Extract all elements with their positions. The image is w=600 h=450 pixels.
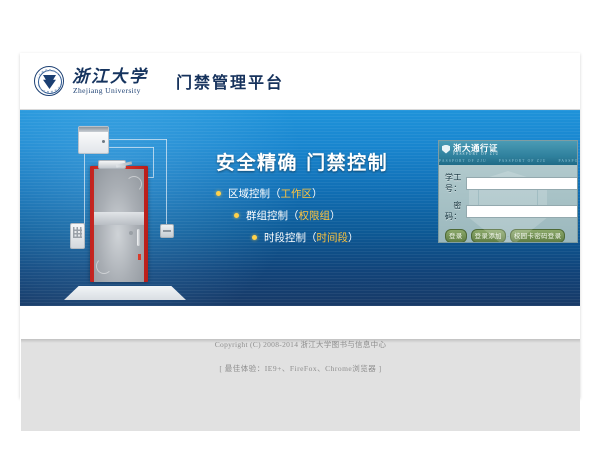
password-input[interactable] [466,205,578,218]
feature-text-end: ） [330,208,341,223]
login-form: 学工号： 密 码： [439,165,577,222]
login-panel-subtitle: PASSPORT OF ZJU [453,152,499,156]
cable-to-keypad [84,154,85,224]
university-name-cn: 浙江大学 [72,68,148,85]
strip-text: PASSPORT OF ZJU [559,159,578,163]
browser-compatibility-text: [ 最佳体验：IE9+、FireFox、Chrome浏览器 ] [21,363,580,374]
password-label: 密 码： [445,200,462,222]
door-handle [137,229,141,246]
feature-text: 区域控制（ [228,186,281,201]
door-access-control-illustration [48,124,208,302]
banner-slogan: 安全精确 门禁控制 [216,148,388,175]
list-item[interactable]: 时段控制（ 时间段 ） [252,230,359,245]
bullet-icon [216,191,221,196]
login-button-row: 登录 登录添加 校园卡密码登录 [439,228,577,243]
login-panel-titlebar: 浙大通行证 PASSPORT OF ZJU [439,141,577,157]
list-item[interactable]: 群组控制（ 权限组 ） [234,208,359,223]
cable-top-horizontal [109,139,167,140]
feature-highlight: 权限组 [299,208,331,223]
login-add-button[interactable]: 登录添加 [471,229,506,243]
feature-highlight: 时间段 [317,230,349,245]
brand-text: 浙江大学 Zhejiang University [64,68,148,95]
student-id-label: 学工号： [445,172,462,194]
application-window: 浙江大学 Zhejiang University 门禁管理平台 [20,53,580,398]
university-name-en: Zhejiang University [73,87,148,95]
cable-second-drop [153,147,154,177]
field-student-id: 学工号： [445,172,571,194]
door-decor-swirl [126,176,142,192]
feature-text-end: ） [312,186,323,201]
bullet-icon [234,213,239,218]
door-frame [90,166,148,282]
door-leaf [94,169,144,282]
bullet-icon [252,235,257,240]
page-title: 门禁管理平台 [176,69,284,93]
keypad-reader-icon [70,223,85,249]
control-box-led [102,140,105,143]
door-panel-band [94,212,144,225]
card-reader-icon [160,224,174,238]
cable-second-horizontal [109,147,154,148]
login-panel-strip: PASSPORT OF ZJU PASSPORT OF ZJU PASSPORT… [439,157,577,165]
field-password: 密 码： [445,200,571,222]
strip-text: PASSPORT OF ZJU [499,159,547,163]
keypad-buttons [73,227,82,238]
page-header: 浙江大学 Zhejiang University 门禁管理平台 [20,53,580,110]
door-decor-swirl [96,258,112,274]
control-box-icon [78,126,109,154]
list-item[interactable]: 区域控制（ 工作区 ） [216,186,359,201]
campus-card-login-button[interactable]: 校园卡密码登录 [510,229,566,243]
shield-icon [442,145,450,154]
feature-text: 群组控制（ [246,208,299,223]
student-id-input[interactable] [466,177,578,190]
login-button[interactable]: 登录 [445,229,467,243]
university-logo[interactable]: 浙江大学 Zhejiang University [34,66,148,96]
feature-highlight: 工作区 [281,186,313,201]
floor-plate [64,286,186,300]
hero-banner: 安全精确 门禁控制 区域控制（ 工作区 ） 群组控制（ 权限组 ） 时段控制（ … [20,110,580,306]
cable-to-card-reader [166,139,167,225]
strip-text: PASSPORT OF ZJU [439,159,487,163]
feature-text: 时段控制（ [264,230,317,245]
door-knob [129,231,133,235]
login-panel: 浙大通行证 PASSPORT OF ZJU PASSPORT OF ZJU PA… [438,140,578,243]
university-seal-icon [34,66,64,96]
page-footer: Copyright (C) 2008-2014 浙江大学图书与信息中心 [ 最佳… [20,339,580,431]
feature-list: 区域控制（ 工作区 ） 群组控制（ 权限组 ） 时段控制（ 时间段 ） [216,186,359,252]
door-lock-led [138,254,141,260]
footer-top-shadow [21,339,580,343]
feature-text-end: ） [348,230,359,245]
